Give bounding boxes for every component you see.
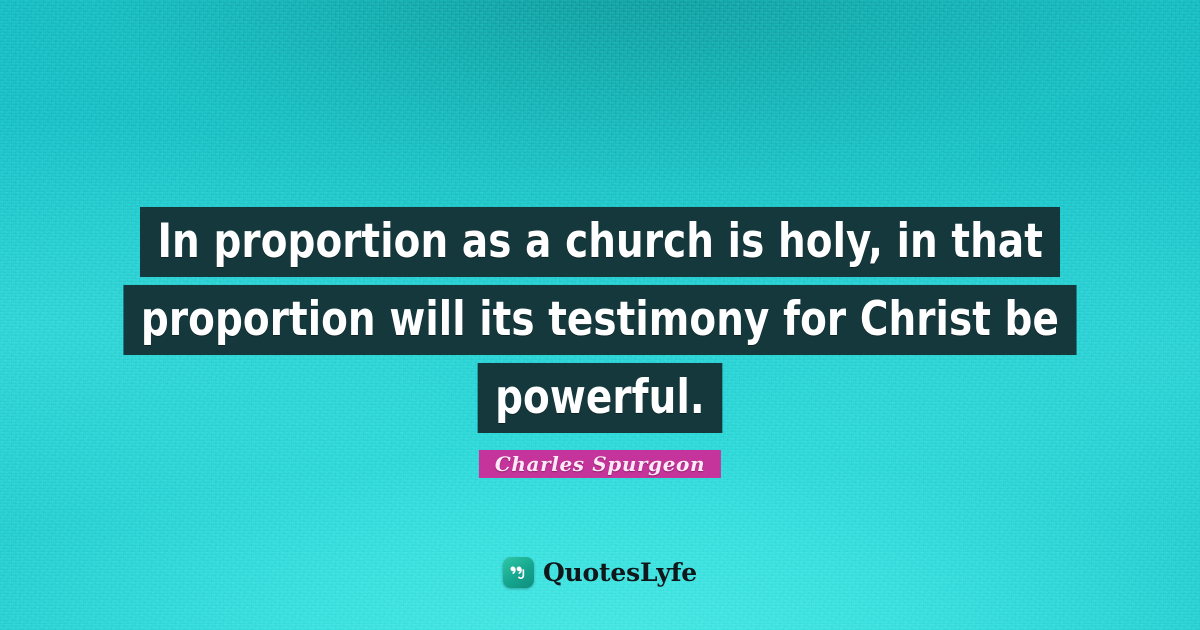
quote-text-block: In proportion as a church is holy, in th… [0, 207, 1200, 433]
quote-line-2: proportion will its testimony for Christ… [123, 285, 1076, 355]
quote-card: In proportion as a church is holy, in th… [0, 0, 1200, 630]
quote-line-1: In proportion as a church is holy, in th… [140, 207, 1060, 277]
quote-mark-icon [503, 557, 534, 588]
brand-name: QuotesLyfe [543, 559, 697, 586]
author-badge: Charles Spurgeon [479, 450, 721, 478]
quote-line-3: powerful. [478, 363, 723, 433]
brand-logo[interactable]: QuotesLyfe [503, 557, 697, 588]
